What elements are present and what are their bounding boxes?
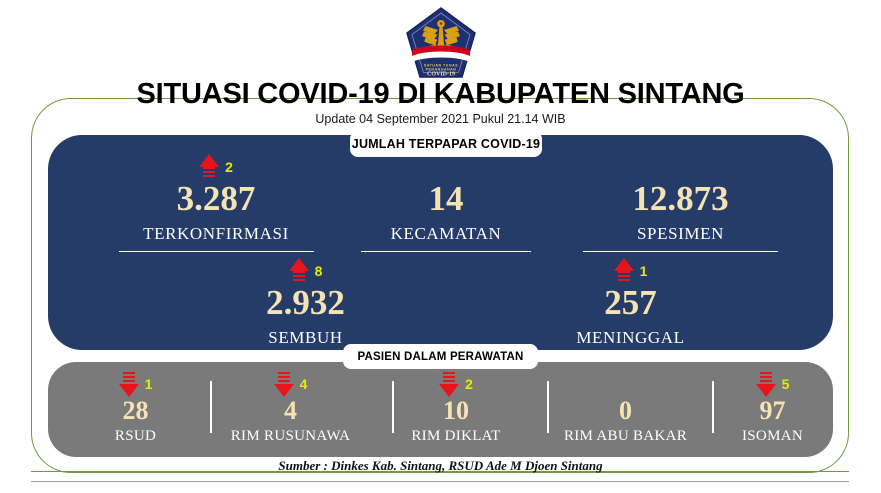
stat-value: 14 bbox=[346, 181, 546, 216]
stat-value: 3.287 bbox=[76, 181, 356, 216]
chip-jumlah-terpapar: JUMLAH TERPAPAR COVID-19 bbox=[350, 131, 542, 157]
stat-rim-diklat: 2 10 RIM DIKLAT bbox=[381, 370, 531, 444]
stat-value: 12.873 bbox=[548, 181, 813, 216]
stat-label: SPESIMEN bbox=[548, 225, 813, 242]
exposure-panel: 2 3.287 TERKONFIRMASI 14 KECAMATAN 12.87… bbox=[48, 135, 833, 350]
delta-value: 5 bbox=[782, 377, 790, 391]
arrow-up-icon bbox=[289, 258, 309, 284]
stat-label: RIM DIKLAT bbox=[381, 429, 531, 444]
arrow-up-icon bbox=[199, 154, 219, 180]
stat-value: 10 bbox=[381, 398, 531, 424]
stat-value: 97 bbox=[720, 398, 825, 424]
delta-isoman: 5 bbox=[720, 370, 825, 398]
delta-rsud: 1 bbox=[68, 370, 203, 398]
stat-label: RSUD bbox=[68, 429, 203, 444]
arrow-down-icon bbox=[119, 371, 139, 397]
stat-value: 2.932 bbox=[203, 285, 408, 320]
stat-underline bbox=[119, 251, 314, 252]
stat-label: RIM ABU BAKAR bbox=[538, 429, 713, 444]
stat-terkonfirmasi: 2 3.287 TERKONFIRMASI bbox=[76, 153, 356, 252]
stat-rim-rusunawa: 4 4 RIM RUSUNAWA bbox=[208, 370, 373, 444]
covid-infographic: SATUAN TUGAS PENANGANAN COVID-19 SITUASI… bbox=[0, 0, 881, 493]
stat-value: 4 bbox=[208, 398, 373, 424]
delta-rim-abu-bakar-placeholder bbox=[538, 370, 713, 398]
stat-meninggal: 1 257 MENINGGAL bbox=[528, 257, 733, 346]
divider-3 bbox=[547, 381, 549, 433]
arrow-down-icon bbox=[756, 371, 776, 397]
delta-value: 8 bbox=[315, 264, 323, 278]
delta-rim-diklat: 2 bbox=[381, 370, 531, 398]
stat-value: 0 bbox=[538, 398, 713, 424]
chip-pasien-dalam-perawatan: PASIEN DALAM PERAWATAN bbox=[343, 344, 538, 369]
divider-2 bbox=[392, 381, 394, 433]
care-panel: 1 28 RSUD 4 4 RIM RUSUNAWA 2 bbox=[48, 362, 833, 457]
stat-label: KECAMATAN bbox=[346, 225, 546, 242]
divider-4 bbox=[712, 381, 714, 433]
update-timestamp: Update 04 September 2021 Pukul 21.14 WIB bbox=[0, 112, 881, 126]
stat-sembuh: 8 2.932 SEMBUH bbox=[203, 257, 408, 346]
delta-rim-rusunawa: 4 bbox=[208, 370, 373, 398]
delta-value: 2 bbox=[225, 160, 233, 174]
stat-label: ISOMAN bbox=[720, 429, 825, 444]
delta-spesimen-placeholder bbox=[548, 153, 813, 181]
stat-rsud: 1 28 RSUD bbox=[68, 370, 203, 444]
stat-underline bbox=[361, 251, 531, 252]
logo-line-3: COVID-19 bbox=[427, 72, 455, 78]
arrow-down-icon bbox=[274, 371, 294, 397]
stat-kecamatan: 14 KECAMATAN bbox=[346, 153, 546, 252]
satgas-covid19-logo: SATUAN TUGAS PENANGANAN COVID-19 bbox=[405, 6, 477, 80]
stat-value: 257 bbox=[528, 285, 733, 320]
stat-label: MENINGGAL bbox=[528, 329, 733, 346]
source-note: Sumber : Dinkes Kab. Sintang, RSUD Ade M… bbox=[0, 458, 881, 474]
delta-value: 4 bbox=[300, 377, 308, 391]
divider-1 bbox=[210, 381, 212, 433]
delta-value: 2 bbox=[465, 377, 473, 391]
delta-value: 1 bbox=[145, 377, 153, 391]
stat-underline bbox=[583, 251, 778, 252]
decorative-grey-line bbox=[31, 481, 849, 482]
page-title: SITUASI COVID-19 DI KABUPATEN SINTANG bbox=[0, 78, 881, 111]
delta-meninggal: 1 bbox=[528, 257, 733, 285]
stat-label: TERKONFIRMASI bbox=[76, 225, 356, 242]
stat-spesimen: 12.873 SPESIMEN bbox=[548, 153, 813, 252]
delta-sembuh: 8 bbox=[203, 257, 408, 285]
delta-terkonfirmasi: 2 bbox=[76, 153, 356, 181]
delta-kecamatan-placeholder bbox=[346, 153, 546, 181]
arrow-down-icon bbox=[439, 371, 459, 397]
stat-rim-abu-bakar: 0 RIM ABU BAKAR bbox=[538, 370, 713, 444]
stat-value: 28 bbox=[68, 398, 203, 424]
arrow-up-icon bbox=[614, 258, 634, 284]
delta-value: 1 bbox=[640, 264, 648, 278]
stat-label: RIM RUSUNAWA bbox=[208, 429, 373, 444]
stat-isoman: 5 97 ISOMAN bbox=[720, 370, 825, 444]
